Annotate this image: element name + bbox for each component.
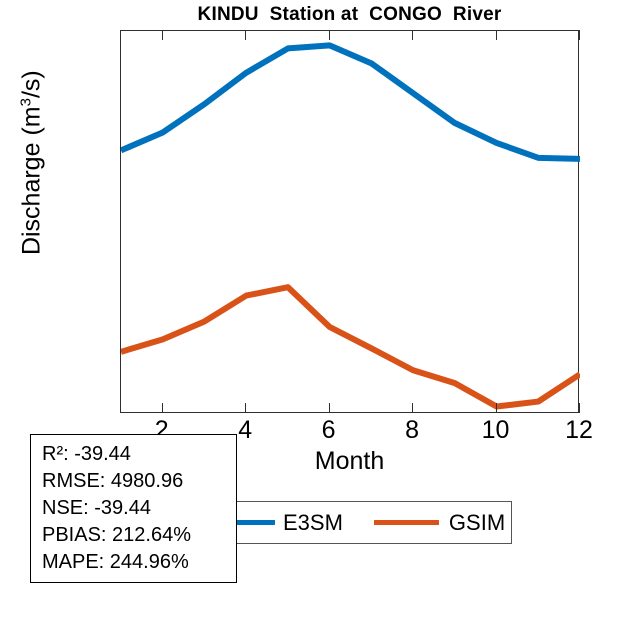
x-tick-label: 12 — [544, 418, 614, 443]
y-axis-label-exponent: 3 — [17, 98, 34, 106]
statistic-line: R²: -39.44 — [42, 441, 236, 468]
legend: E3SMGSIM — [222, 501, 512, 544]
chart-title: KINDU Station at CONGO River — [120, 4, 579, 26]
plot-area — [120, 30, 579, 413]
statistic-line: MAPE: 244.96% — [42, 549, 236, 576]
x-tick-mark-top — [245, 30, 246, 40]
x-tick-mark — [579, 403, 580, 413]
x-tick-mark-top — [162, 30, 163, 40]
x-tick-mark-top — [329, 30, 330, 40]
legend-item-e3sm[interactable]: E3SM — [231, 502, 343, 543]
legend-item-gsim[interactable]: GSIM — [374, 502, 505, 543]
figure-root: KINDU Station at CONGO River Discharge (… — [0, 0, 625, 625]
statistics-box: R²: -39.44RMSE: 4980.96NSE: -39.44PBIAS:… — [30, 434, 237, 583]
statistic-line: PBIAS: 212.64% — [42, 522, 236, 549]
legend-label: E3SM — [283, 510, 343, 536]
plot-lines-svg — [121, 31, 580, 414]
x-tick-label: 10 — [461, 418, 531, 443]
line-series-e3sm — [121, 45, 580, 158]
x-tick-label: 6 — [294, 418, 364, 443]
x-tick-mark — [245, 403, 246, 413]
legend-label: GSIM — [449, 510, 505, 536]
statistic-line: NSE: -39.44 — [42, 495, 236, 522]
x-tick-mark-top — [579, 30, 580, 40]
x-tick-mark — [412, 403, 413, 413]
statistic-line: RMSE: 4980.96 — [42, 468, 236, 495]
x-tick-mark — [496, 403, 497, 413]
legend-swatch-icon — [231, 520, 275, 525]
x-tick-mark — [329, 403, 330, 413]
x-tick-mark-top — [412, 30, 413, 40]
line-series-gsim — [121, 287, 580, 406]
y-axis-label-tail: /s) — [18, 70, 46, 98]
y-axis-label-base: Discharge (m — [18, 106, 46, 255]
x-tick-label: 8 — [377, 418, 447, 443]
y-axis-label: Discharge (m3/s) — [17, 0, 46, 343]
x-tick-mark-top — [496, 30, 497, 40]
legend-swatch-icon — [374, 520, 439, 525]
x-tick-mark — [162, 403, 163, 413]
